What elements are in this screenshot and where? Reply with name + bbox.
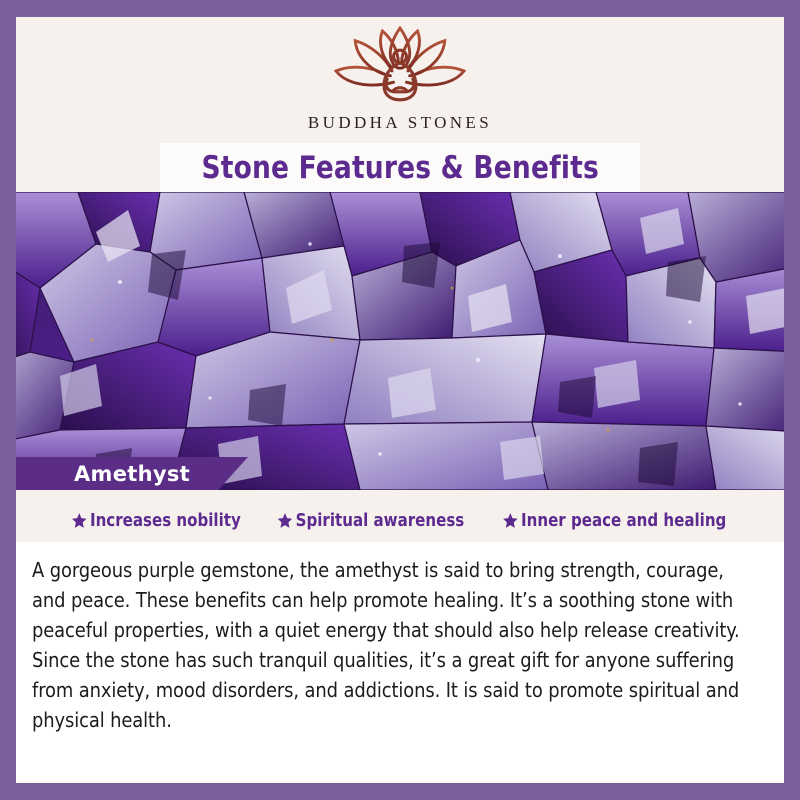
card-header: BUDDHA STONES Stone Features & Benefits (16, 17, 784, 192)
description-text: A gorgeous purple gemstone, the amethyst… (32, 555, 746, 735)
benefit-item-3: Inner peace and healing (503, 510, 727, 531)
brand-name: BUDDHA STONES (308, 113, 492, 133)
page-title: Stone Features & Benefits (201, 150, 598, 186)
star-icon (503, 512, 519, 529)
title-plate: Stone Features & Benefits (160, 143, 640, 192)
stone-name-label: Amethyst (74, 462, 190, 486)
brand-logo: BUDDHA STONES (16, 23, 784, 133)
benefit-label: Spiritual awareness (296, 510, 465, 531)
benefit-item-2: Spiritual awareness (277, 510, 464, 531)
benefits-list: Increases nobility Spiritual awareness I… (16, 498, 784, 542)
star-icon (71, 512, 87, 529)
benefit-item-1: Increases nobility (71, 510, 240, 531)
benefit-label: Increases nobility (90, 510, 241, 531)
description-panel: A gorgeous purple gemstone, the amethyst… (16, 542, 784, 783)
star-icon (277, 512, 293, 529)
product-info-card: BUDDHA STONES Stone Features & Benefits (16, 17, 784, 783)
benefit-label: Inner peace and healing (521, 510, 726, 531)
amethyst-crystal-illustration (16, 192, 784, 490)
stone-name-banner: Amethyst (16, 457, 248, 490)
amethyst-photo (16, 192, 784, 490)
lotus-meditation-figure-icon (320, 23, 480, 111)
